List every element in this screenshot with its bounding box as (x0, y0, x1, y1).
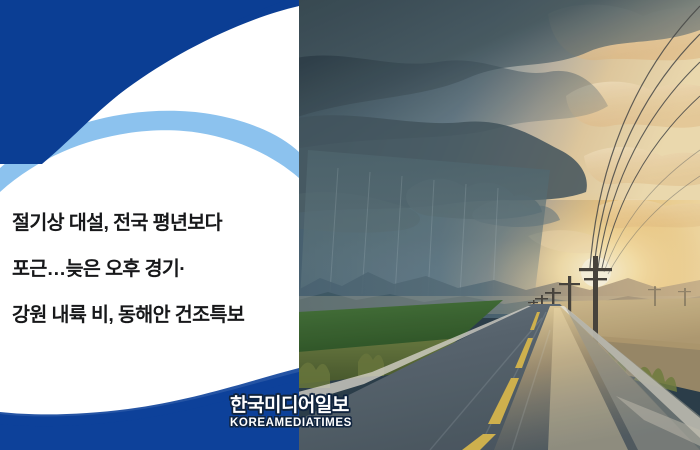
headline: 절기상 대설, 전국 평년보다 포근…늦은 오후 경기· 강원 내륙 비, 동해… (12, 200, 304, 338)
headline-line-1: 절기상 대설, 전국 평년보다 (12, 200, 304, 246)
headline-line-3: 강원 내륙 비, 동해안 건조특보 (12, 292, 304, 338)
photo-illustration (298, 0, 700, 450)
photo-tone (298, 0, 700, 450)
headline-line-2: 포근…늦은 오후 경기· (12, 246, 304, 292)
news-card: 절기상 대설, 전국 평년보다 포근…늦은 오후 경기· 강원 내륙 비, 동해… (0, 0, 700, 450)
photo-background (298, 0, 700, 450)
